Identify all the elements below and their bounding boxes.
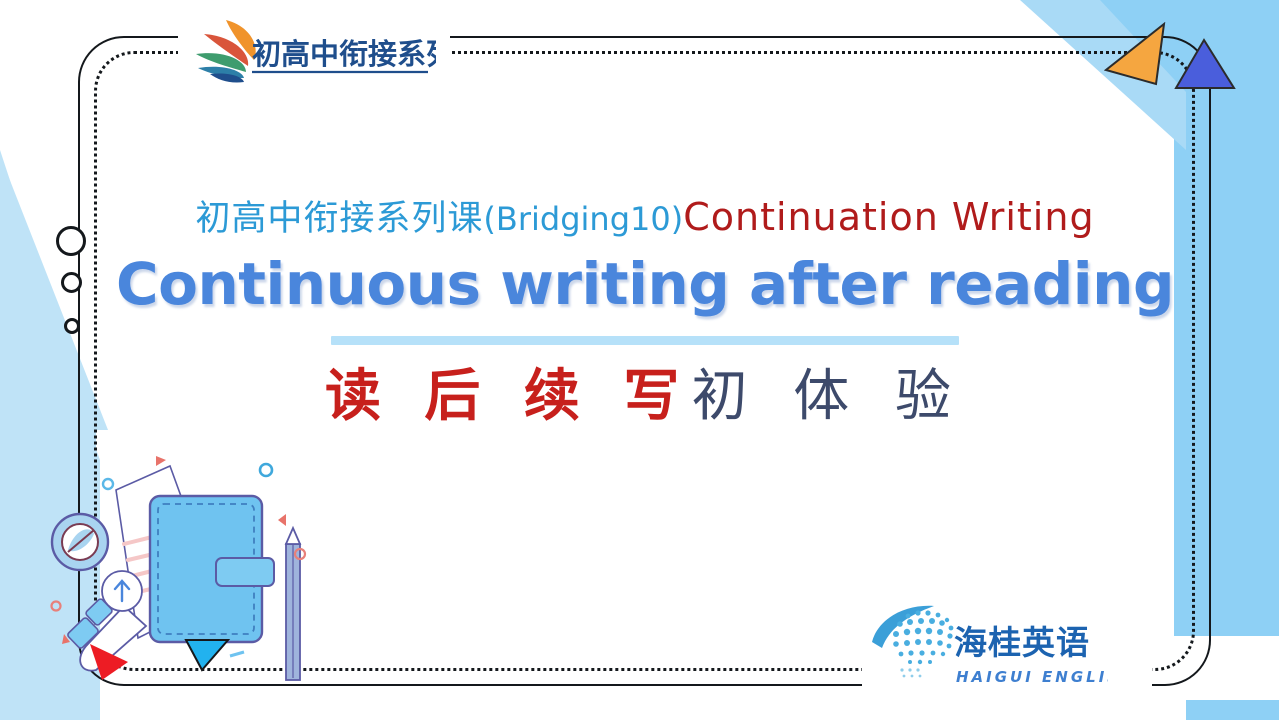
title-divider xyxy=(331,336,959,345)
illus-blue-arrow-icon xyxy=(186,640,228,670)
border-circle-medium xyxy=(61,272,82,293)
series-logo: 初高中衔接系列课 xyxy=(188,12,436,90)
illus-tri-red-2 xyxy=(278,514,286,526)
cn-title-line: 读 后 续 写初 体 验 xyxy=(100,353,1190,440)
border-circle-large xyxy=(56,226,86,256)
brand-logo-en: HAIGUI ENGLISH xyxy=(956,668,1108,686)
illus-dot-red-2 xyxy=(52,602,61,611)
subtitle-cn: 初高中衔接系列课 xyxy=(195,199,483,239)
series-logo-text: 初高中衔接系列课 xyxy=(252,37,436,71)
subtitle-bridging: (Bridging10) xyxy=(483,200,683,238)
brand-logo-haigui-english: 海桂英语 HAIGUI ENGLISH xyxy=(868,596,1108,692)
stationery-illustration xyxy=(28,448,358,710)
corner-triangle-blue-icon xyxy=(1168,36,1248,98)
cn-title-red: 读 后 续 写 xyxy=(325,363,692,429)
illus-notebook-clasp xyxy=(216,558,274,586)
subtitle-line: 初高中衔接系列课(Bridging10)Continuation Writing xyxy=(100,190,1190,246)
subtitle-en: Continuation Writing xyxy=(683,195,1094,239)
illus-tri-red-1 xyxy=(156,456,166,466)
cn-title-navy: 初 体 验 xyxy=(691,364,965,429)
bg-bottomright-blue xyxy=(1186,700,1279,720)
illus-arrow-tail xyxy=(230,652,244,656)
slide-content: 初高中衔接系列课(Bridging10)Continuation Writing… xyxy=(100,190,1190,440)
illus-dot-blue-2 xyxy=(260,464,272,476)
illus-dot-blue-1 xyxy=(103,479,113,489)
logo-reflection-dots xyxy=(900,668,921,677)
illus-pencil-tip xyxy=(286,528,300,544)
headline: Continuous writing after reading xyxy=(100,246,1190,322)
logo-swoosh xyxy=(872,606,934,648)
brand-logo-cn: 海桂英语 xyxy=(954,623,1090,662)
border-circle-small xyxy=(64,318,80,334)
